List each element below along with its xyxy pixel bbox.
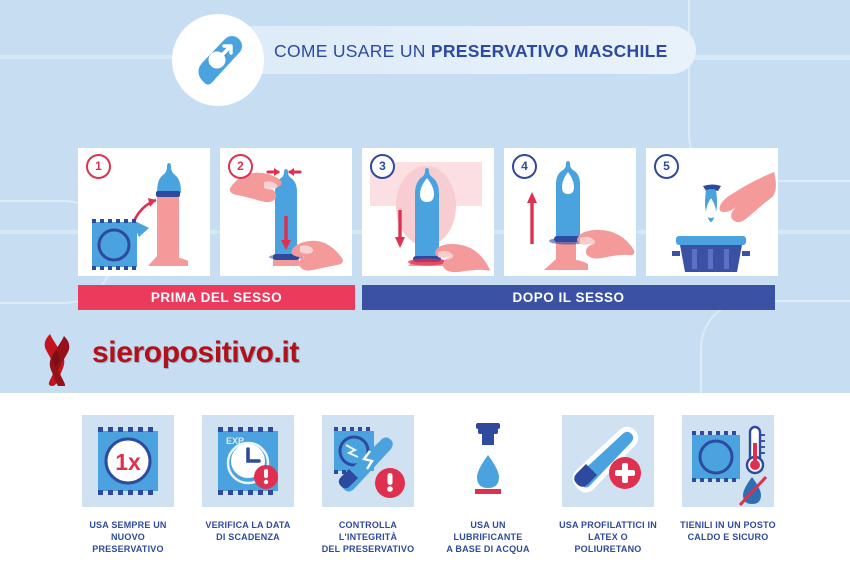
- header-icon-circle: [172, 14, 264, 106]
- tips-row: 1x USA SEMPRE UN NUOVO PRESERVATIVO: [78, 415, 778, 555]
- damaged-condom-warning-icon: [322, 415, 414, 507]
- step-panel-1[interactable]: 1: [78, 148, 210, 276]
- tip-item-5[interactable]: USA PROFILATTICI IN LATEX O POLIURETANO: [558, 415, 658, 555]
- tip-label-6: TIENILI IN UN POSTO CALDO E SICURO: [678, 519, 778, 543]
- tip-item-2[interactable]: EXP VERIFICA LA DATA DI SCADENZA: [198, 415, 298, 543]
- tip-icon-box-1: 1x: [82, 415, 174, 507]
- phase-bar-before: PRIMA DEL SESSO: [78, 285, 355, 310]
- storage-temperature-icon: [682, 415, 774, 507]
- header: COME USARE UN PRESERVATIVO MASCHILE: [172, 14, 696, 76]
- tip-item-4[interactable]: USA UN LUBRIFICANTE A BASE DI ACQUA: [438, 415, 538, 555]
- step-panel-2[interactable]: 2: [220, 148, 352, 276]
- step-number-2: 2: [228, 154, 253, 179]
- latex-condom-plus-icon: [562, 415, 654, 507]
- step-number-3: 3: [370, 154, 395, 179]
- title-plain: COME USARE UN: [274, 41, 431, 61]
- tip-item-3[interactable]: CONTROLLA L'INTEGRITÀ DEL PRESERVATIVO: [318, 415, 418, 555]
- logo-text: sieropositivo.it: [92, 336, 299, 370]
- step-panel-4[interactable]: 4: [504, 148, 636, 276]
- svg-text:1x: 1x: [115, 449, 141, 475]
- tip-label-4: USA UN LUBRIFICANTE A BASE DI ACQUA: [438, 519, 538, 555]
- step-number-5: 5: [654, 154, 679, 179]
- condom-male-symbol-icon: [192, 32, 246, 88]
- site-logo[interactable]: sieropositivo.it: [26, 326, 326, 388]
- steps-row: 1: [78, 148, 775, 276]
- tip-icon-box-5: [562, 415, 654, 507]
- condom-wrapper-expiry-clock-icon: EXP: [202, 415, 294, 507]
- tip-label-5: USA PROFILATTICI IN LATEX O POLIURETANO: [558, 519, 658, 555]
- tip-label-3: CONTROLLA L'INTEGRITÀ DEL PRESERVATIVO: [318, 519, 418, 555]
- step-panel-5[interactable]: 5: [646, 148, 778, 276]
- phase-bar-after: DOPO IL SESSO: [362, 285, 775, 310]
- infographic-canvas: COME USARE UN PRESERVATIVO MASCHILE: [0, 0, 850, 565]
- step-number-1: 1: [86, 154, 111, 179]
- tip-icon-box-3: [322, 415, 414, 507]
- tip-item-6[interactable]: TIENILI IN UN POSTO CALDO E SICURO: [678, 415, 778, 543]
- header-hairline: [690, 57, 850, 60]
- tip-icon-box-6: [682, 415, 774, 507]
- step-number-4: 4: [512, 154, 537, 179]
- condom-wrapper-one-time-icon: 1x: [82, 415, 174, 507]
- tip-label-1: USA SEMPRE UN NUOVO PRESERVATIVO: [78, 519, 178, 555]
- tip-icon-box-2: EXP: [202, 415, 294, 507]
- tip-item-1[interactable]: 1x USA SEMPRE UN NUOVO PRESERVATIVO: [78, 415, 178, 555]
- step-panel-3[interactable]: 3: [362, 148, 494, 276]
- water-based-lubricant-bottle-icon: [442, 415, 534, 507]
- aids-awareness-ribbon-icon: [26, 326, 86, 386]
- title-bold: PRESERVATIVO MASCHILE: [431, 41, 668, 61]
- page-title: COME USARE UN PRESERVATIVO MASCHILE: [274, 41, 674, 62]
- tip-label-2: VERIFICA LA DATA DI SCADENZA: [198, 519, 298, 543]
- tip-icon-box-4: [442, 415, 534, 507]
